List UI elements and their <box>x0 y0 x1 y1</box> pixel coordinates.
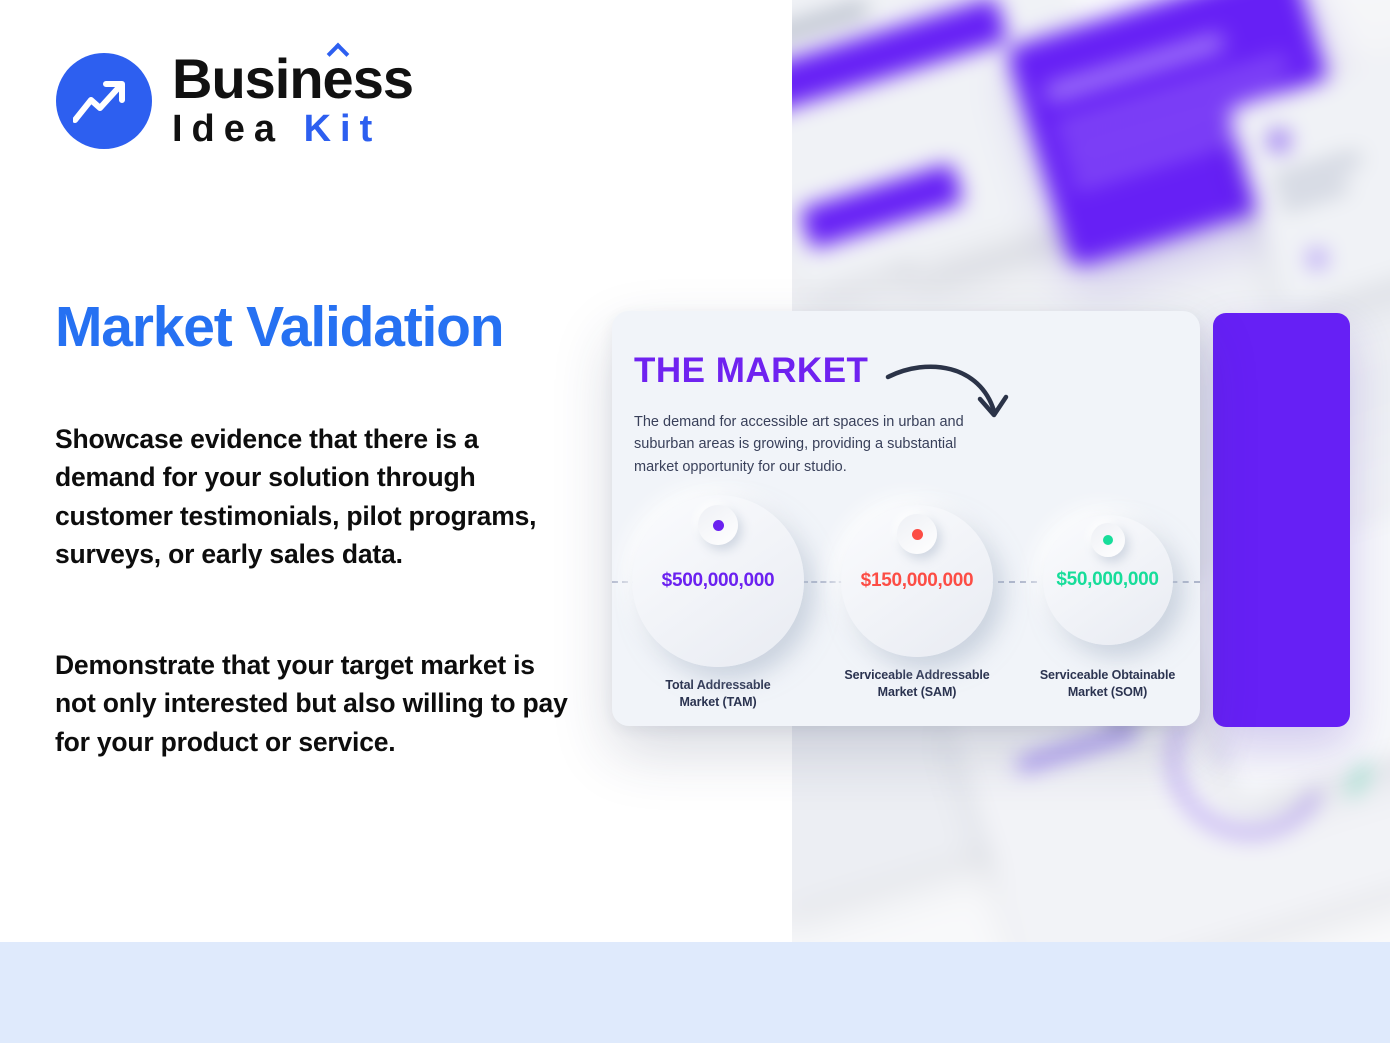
market-item-tam[interactable]: $500,000,000 Total Addressable Market (T… <box>628 495 808 711</box>
market-knob-sam <box>897 514 937 554</box>
market-bubble-tam: $500,000,000 <box>632 495 804 667</box>
curved-arrow-down-right-icon <box>884 359 1012 434</box>
market-bubble-sam: $150,000,000 <box>841 505 993 657</box>
bg-text-line <box>1272 151 1362 190</box>
market-card[interactable]: THE MARKET The demand for accessible art… <box>612 311 1200 726</box>
market-size-chart: $500,000,000 Total Addressable Market (T… <box>612 491 1200 726</box>
brand-name-line1: Business <box>172 52 413 106</box>
status-dot-icon <box>912 529 923 540</box>
market-bubble-som: $50,000,000 <box>1043 515 1173 645</box>
market-label-tam: Total Addressable Market (TAM) <box>628 677 808 711</box>
market-label-line1: Total Addressable <box>665 678 770 692</box>
market-label-line1: Serviceable Addressable <box>844 668 989 682</box>
brand-name-line2: Idea Kit <box>172 110 413 150</box>
trending-up-arrow-icon <box>56 53 152 149</box>
market-label-som: Serviceable Obtainable Market (SOM) <box>1020 667 1195 701</box>
market-knob-som <box>1091 523 1125 557</box>
slide-canvas: Business Idea Kit Market Validation Show… <box>0 0 1390 1043</box>
bg-dot-icon <box>1265 127 1292 154</box>
bg-purple-slab <box>799 163 964 250</box>
market-label-sam: Serviceable Addressable Market (SAM) <box>822 667 1012 701</box>
market-amount-som: $50,000,000 <box>1056 569 1158 591</box>
status-dot-icon <box>1103 535 1113 545</box>
market-label-line1: Serviceable Obtainable <box>1040 668 1175 682</box>
brand-wordmark: Business Idea Kit <box>172 52 413 150</box>
page-title: Market Validation <box>55 296 503 359</box>
status-dot-icon <box>713 520 724 531</box>
market-label-line2: Market (SAM) <box>878 685 957 699</box>
bg-dot-icon <box>1306 247 1328 269</box>
body-paragraph-2: Demonstrate that your target market is n… <box>55 646 575 761</box>
brand-idea-text: Idea <box>172 108 284 150</box>
body-paragraph-1: Showcase evidence that there is a demand… <box>55 420 575 574</box>
market-knob-tam <box>698 505 738 545</box>
market-label-line2: Market (TAM) <box>679 695 756 709</box>
brand-kit-text: Kit <box>304 108 382 150</box>
brand-name-text: Business <box>172 47 413 110</box>
market-amount-tam: $500,000,000 <box>662 570 775 592</box>
market-amount-sam: $150,000,000 <box>861 570 974 592</box>
market-item-som[interactable]: $50,000,000 Serviceable Obtainable Marke… <box>1020 515 1195 701</box>
market-card-title: THE MARKET <box>634 351 868 391</box>
market-label-line2: Market (SOM) <box>1068 685 1147 699</box>
purple-accent-bar <box>1213 313 1350 727</box>
market-item-sam[interactable]: $150,000,000 Serviceable Addressable Mar… <box>822 505 1012 701</box>
brand-logo[interactable]: Business Idea Kit <box>56 52 413 150</box>
bg-text-line <box>1016 724 1139 773</box>
bottom-color-strip <box>0 942 1390 1043</box>
